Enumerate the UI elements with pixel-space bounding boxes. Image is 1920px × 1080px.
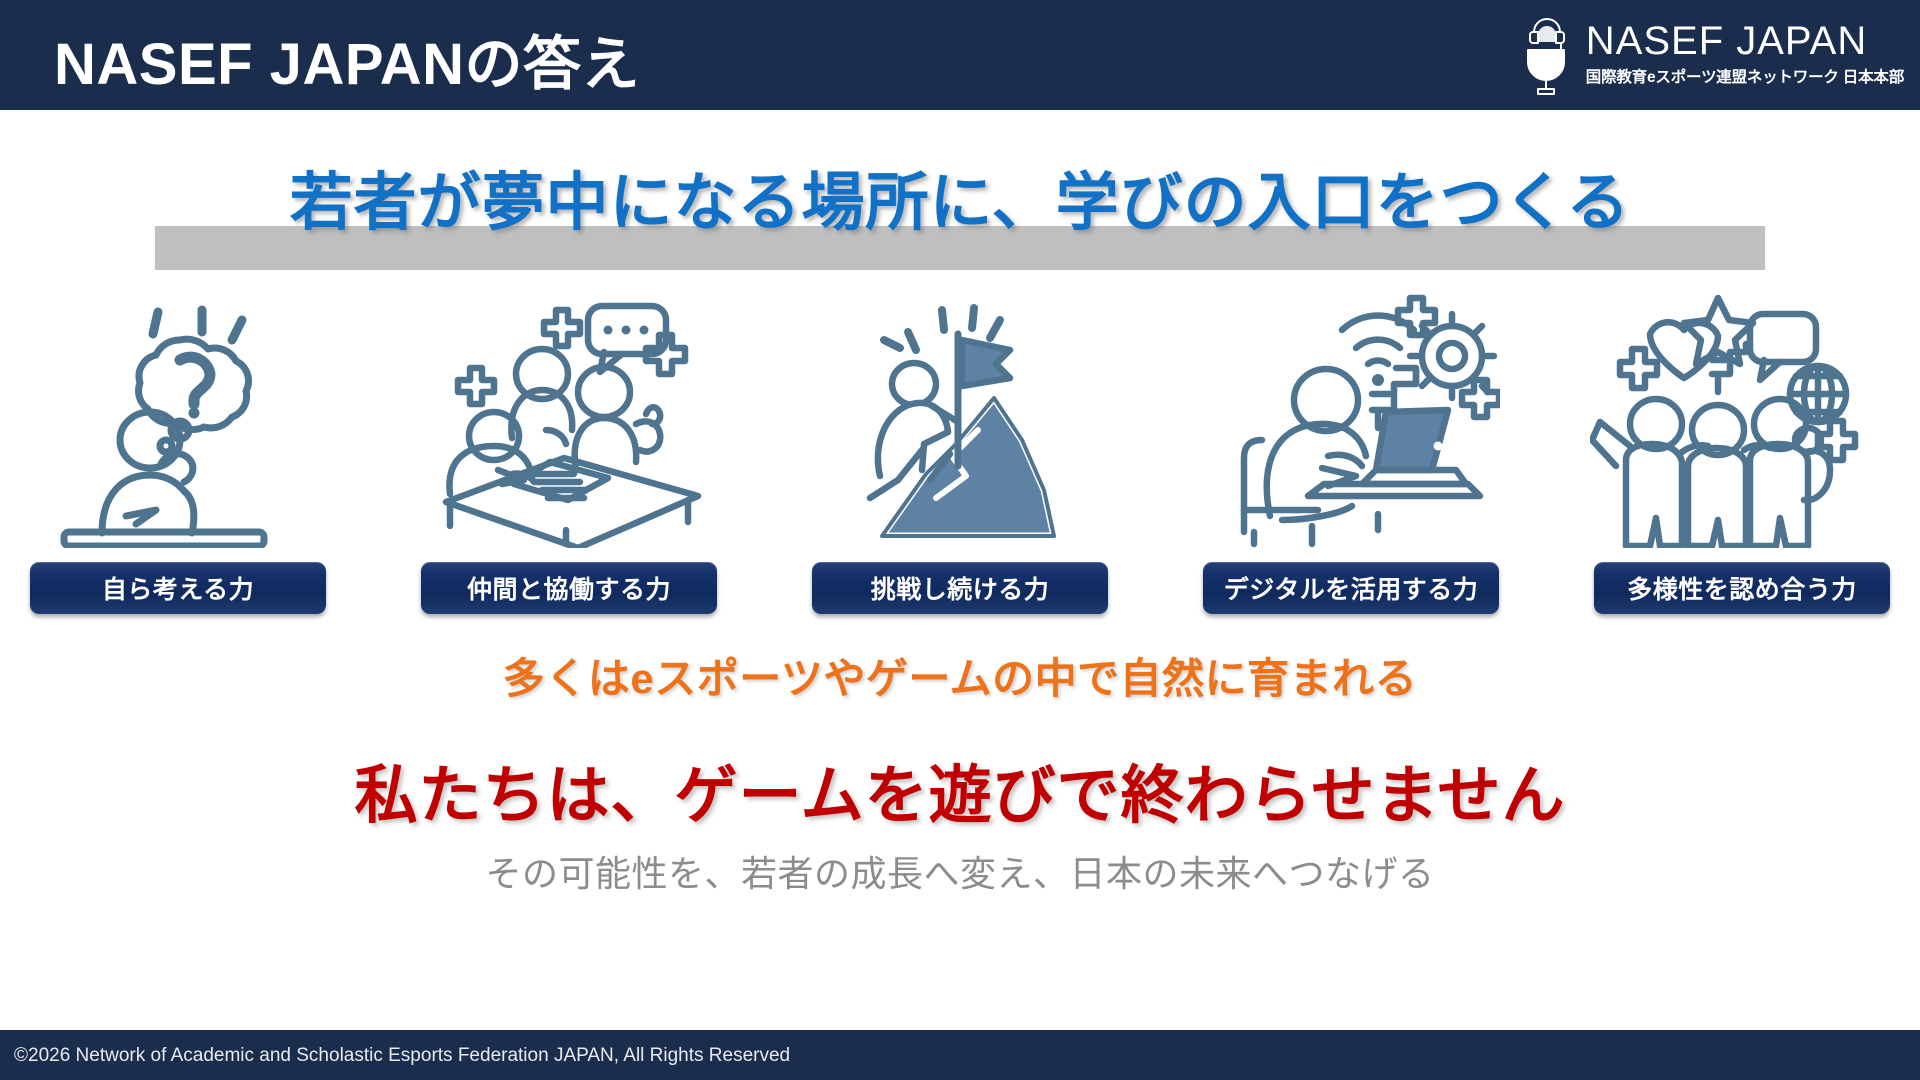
- skill-badge-self-thinking[interactable]: 自ら考える力: [30, 562, 326, 614]
- slide-root: NASEF JAPANの答え: [0, 0, 1920, 1080]
- skill-badge-diversity[interactable]: 多様性を認め合う力: [1594, 562, 1890, 614]
- supporting-statement: 多くはeスポーツやゲームの中で自然に育まれる: [0, 645, 1920, 706]
- skill-badge-digital[interactable]: デジタルを活用する力: [1203, 562, 1499, 614]
- skill-badge-collaboration[interactable]: 仲間と協働する力: [421, 562, 717, 614]
- skill-icon-cell: [1590, 288, 1890, 548]
- mountain-climber-flag-icon: [810, 288, 1110, 548]
- trophy-headset-icon: [1516, 10, 1576, 98]
- skill-icon-row: [30, 288, 1890, 548]
- copyright-text: ©2026 Network of Academic and Scholastic…: [14, 1045, 790, 1067]
- main-headline: 若者が夢中になる場所に、学びの入口をつくる: [0, 152, 1920, 243]
- skill-badge-challenge[interactable]: 挑戦し続ける力: [812, 562, 1108, 614]
- skill-icon-cell: [810, 288, 1110, 548]
- person-laptop-digital-icon: [1200, 288, 1500, 548]
- skill-icon-cell: [420, 288, 720, 548]
- diverse-group-icon: [1590, 288, 1890, 548]
- closing-statement: その可能性を、若者の成長へ変え、日本の未来へつなげる: [0, 845, 1920, 897]
- thinking-person-question-icon: [30, 288, 330, 548]
- brand-logo: NASEF JAPAN 国際教育eスポーツ連盟ネットワーク 日本本部: [1516, 8, 1904, 100]
- logo-wordmark: NASEF JAPAN: [1586, 21, 1867, 62]
- skill-badge-row: 自ら考える力 仲間と協働する力 挑戦し続ける力 デジタルを活用する力 多様性を認…: [30, 562, 1890, 614]
- page-title: NASEF JAPANの答え: [54, 17, 640, 101]
- skill-icon-cell: [1200, 288, 1500, 548]
- logo-subtitle: 国際教育eスポーツ連盟ネットワーク 日本本部: [1586, 65, 1904, 87]
- key-message: 私たちは、ゲームを遊びで終わらせません: [0, 745, 1920, 836]
- team-collaboration-desk-icon: [420, 288, 720, 548]
- skill-icon-cell: [30, 288, 330, 548]
